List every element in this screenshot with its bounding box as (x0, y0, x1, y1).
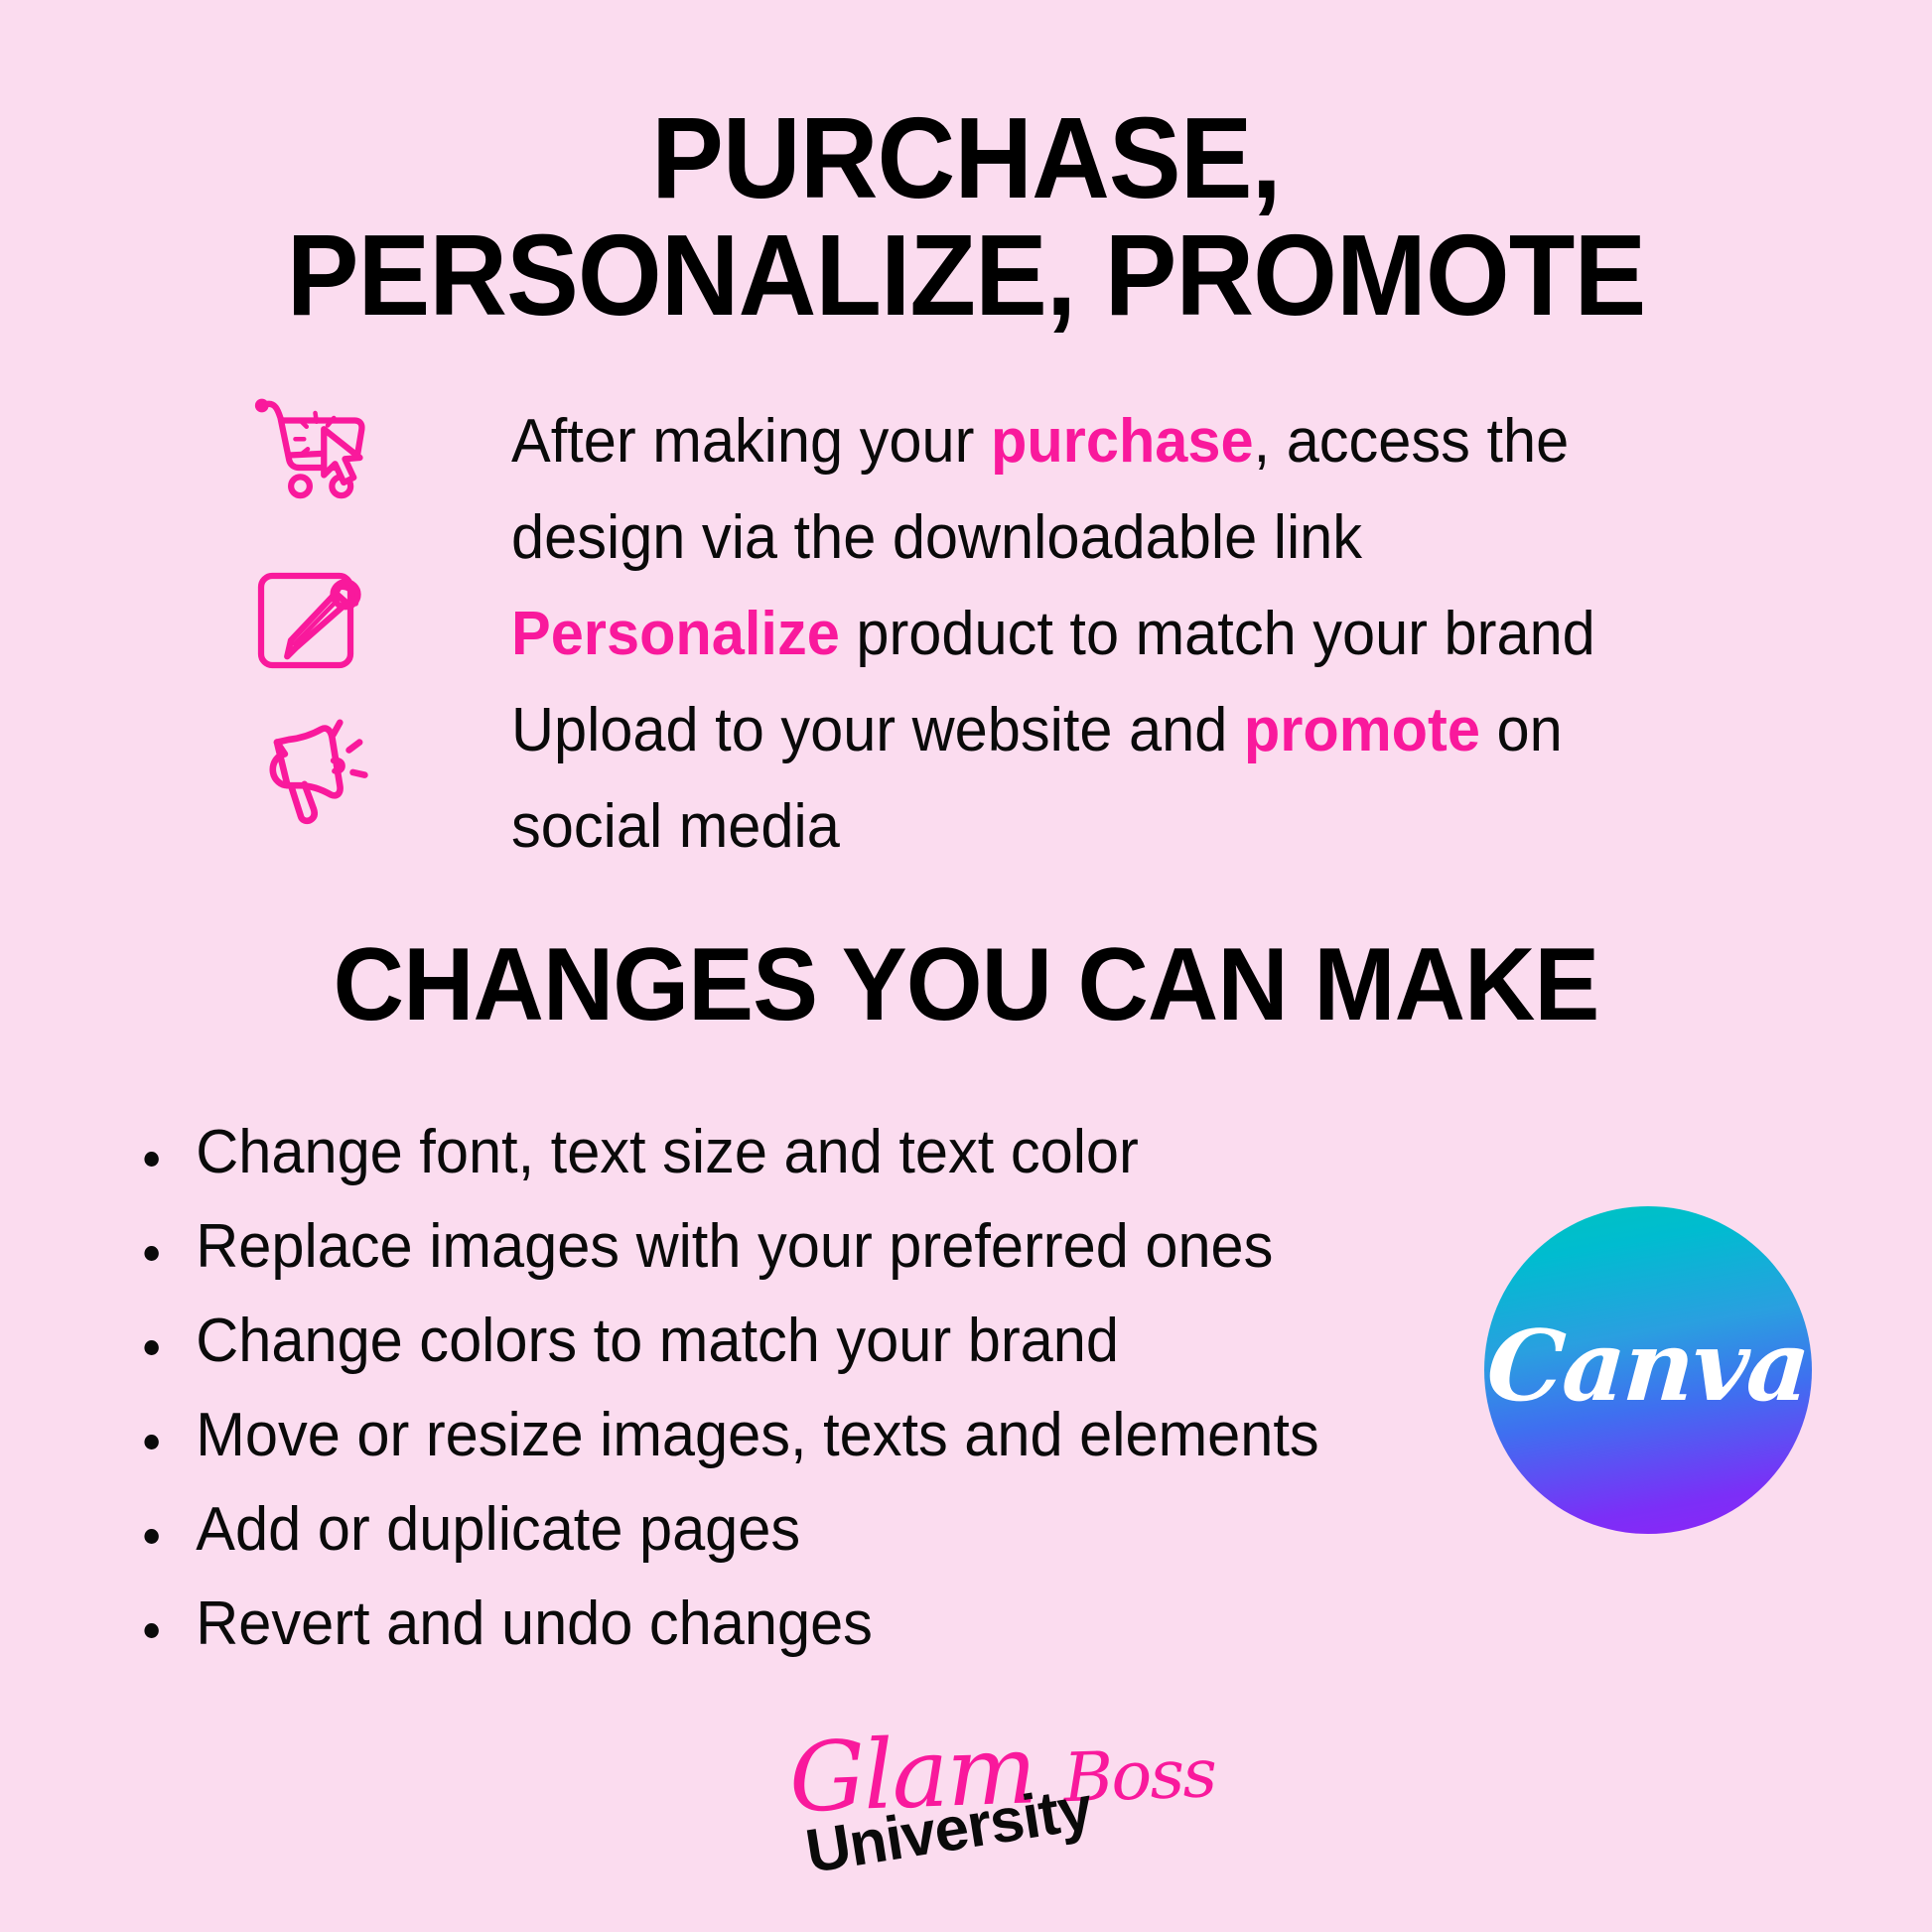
step-3-highlight: promote (1244, 696, 1480, 764)
megaphone-icon (240, 703, 364, 827)
brand-logo: Glam Boss University (787, 1723, 1155, 1901)
pencil-edit-icon (246, 556, 370, 680)
step-1-part-1: After making your (511, 407, 991, 476)
canva-wordmark: Canva (1484, 1318, 1812, 1416)
page-title: PURCHASE, PERSONALIZE, PROMOTE (273, 99, 1660, 335)
list-item: Change font, text size and text color (131, 1120, 1332, 1184)
steps-icon-column (230, 405, 409, 852)
poster-canvas: PURCHASE, PERSONALIZE, PROMOTE (0, 0, 1932, 1932)
step-1-highlight: purchase (991, 407, 1254, 476)
step-2-part-2: product to match your brand (840, 600, 1595, 668)
canva-logo-badge: Canva (1484, 1206, 1812, 1534)
changes-section-title: CHANGES YOU CAN MAKE (49, 933, 1884, 1036)
steps-text-column: After making your purchase, access the d… (511, 393, 1693, 875)
list-item: Revert and undo changes (131, 1591, 1332, 1656)
list-item: Change colors to match your brand (131, 1309, 1332, 1373)
changes-bullet-list: Change font, text size and text color Re… (131, 1120, 1382, 1687)
step-3-part-1: Upload to your website and (511, 696, 1244, 764)
step-2-highlight: Personalize (511, 600, 840, 668)
steps-section: After making your purchase, access the d… (0, 405, 1932, 852)
shopping-cart-click-icon (248, 383, 372, 507)
step-line-2: Personalize product to match your brand (511, 586, 1693, 682)
list-item: Add or duplicate pages (131, 1497, 1332, 1562)
step-line-3: Upload to your website and promote on so… (511, 682, 1693, 875)
list-item: Replace images with your preferred ones (131, 1214, 1332, 1279)
step-line-1: After making your purchase, access the d… (511, 393, 1693, 586)
list-item: Move or resize images, texts and element… (131, 1403, 1332, 1467)
